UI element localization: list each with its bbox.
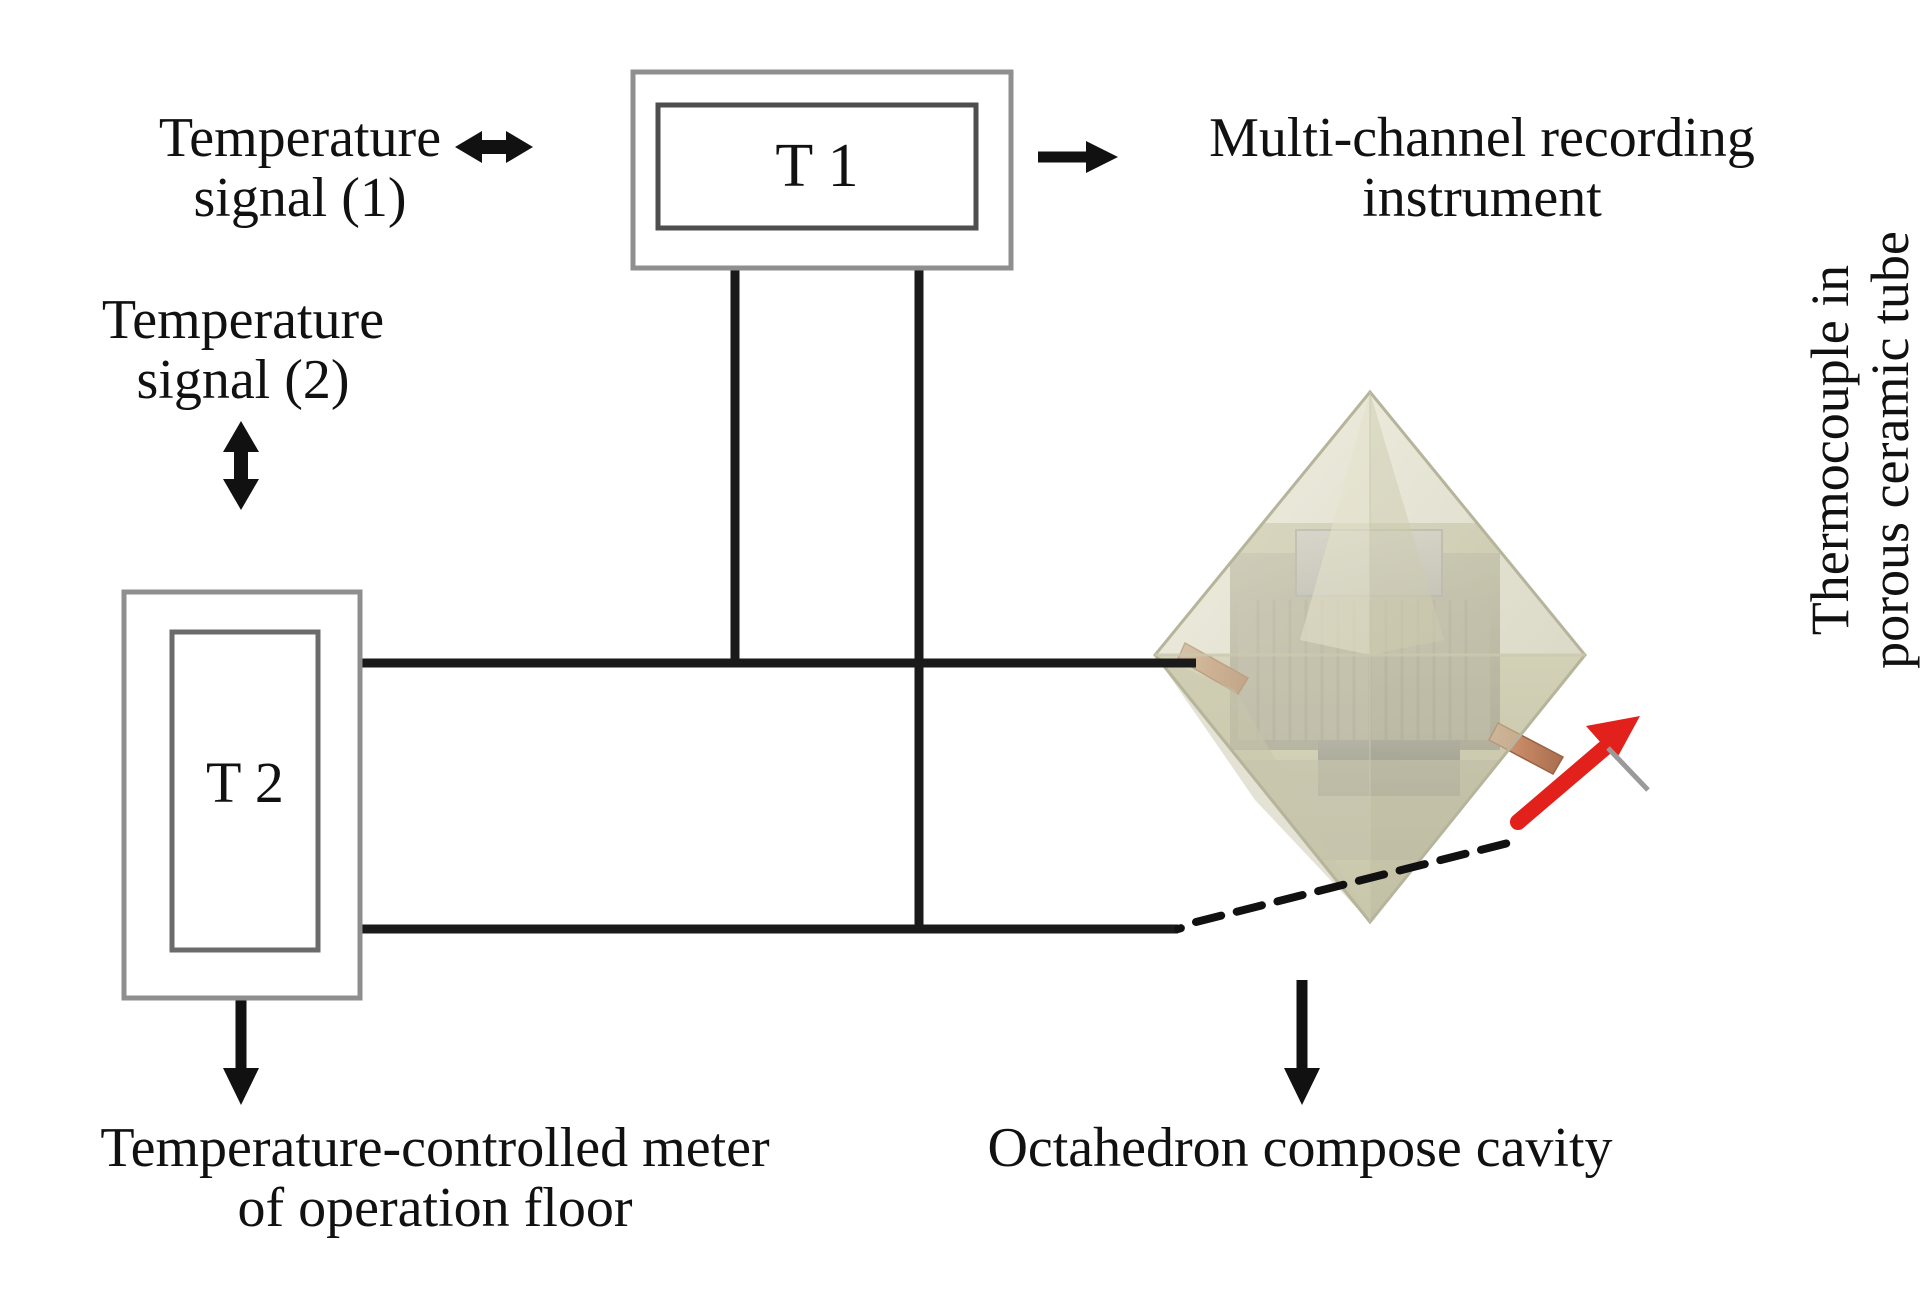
label-temperature-signal-1: Temperature signal (1) bbox=[140, 108, 460, 229]
red-pointer-arrow bbox=[1518, 716, 1648, 822]
arrow-right-multichannel bbox=[1038, 141, 1118, 173]
label-thermocouple-in-porous-ceramic-tube: Thermocouple in porous ceramic tube bbox=[1800, 170, 1921, 730]
label-temperature-signal-2: Temperature signal (2) bbox=[78, 290, 408, 411]
box-t2-label: T 2 bbox=[172, 752, 318, 815]
bidir-vertical-arrow-t2 bbox=[223, 421, 259, 510]
label-octahedron-compose-cavity: Octahedron compose cavity bbox=[880, 1118, 1720, 1178]
diagram-canvas: T 1 T 2 Temperature signal (1) Temperatu… bbox=[0, 0, 1923, 1299]
label-multi-channel-recording-instrument: Multi-channel recording instrument bbox=[1122, 108, 1842, 229]
label-temperature-controlled-meter: Temperature-controlled meter of operatio… bbox=[10, 1118, 860, 1239]
bidir-horizontal-arrow-t1 bbox=[455, 131, 533, 163]
box-t1-label: T 1 bbox=[658, 108, 976, 225]
